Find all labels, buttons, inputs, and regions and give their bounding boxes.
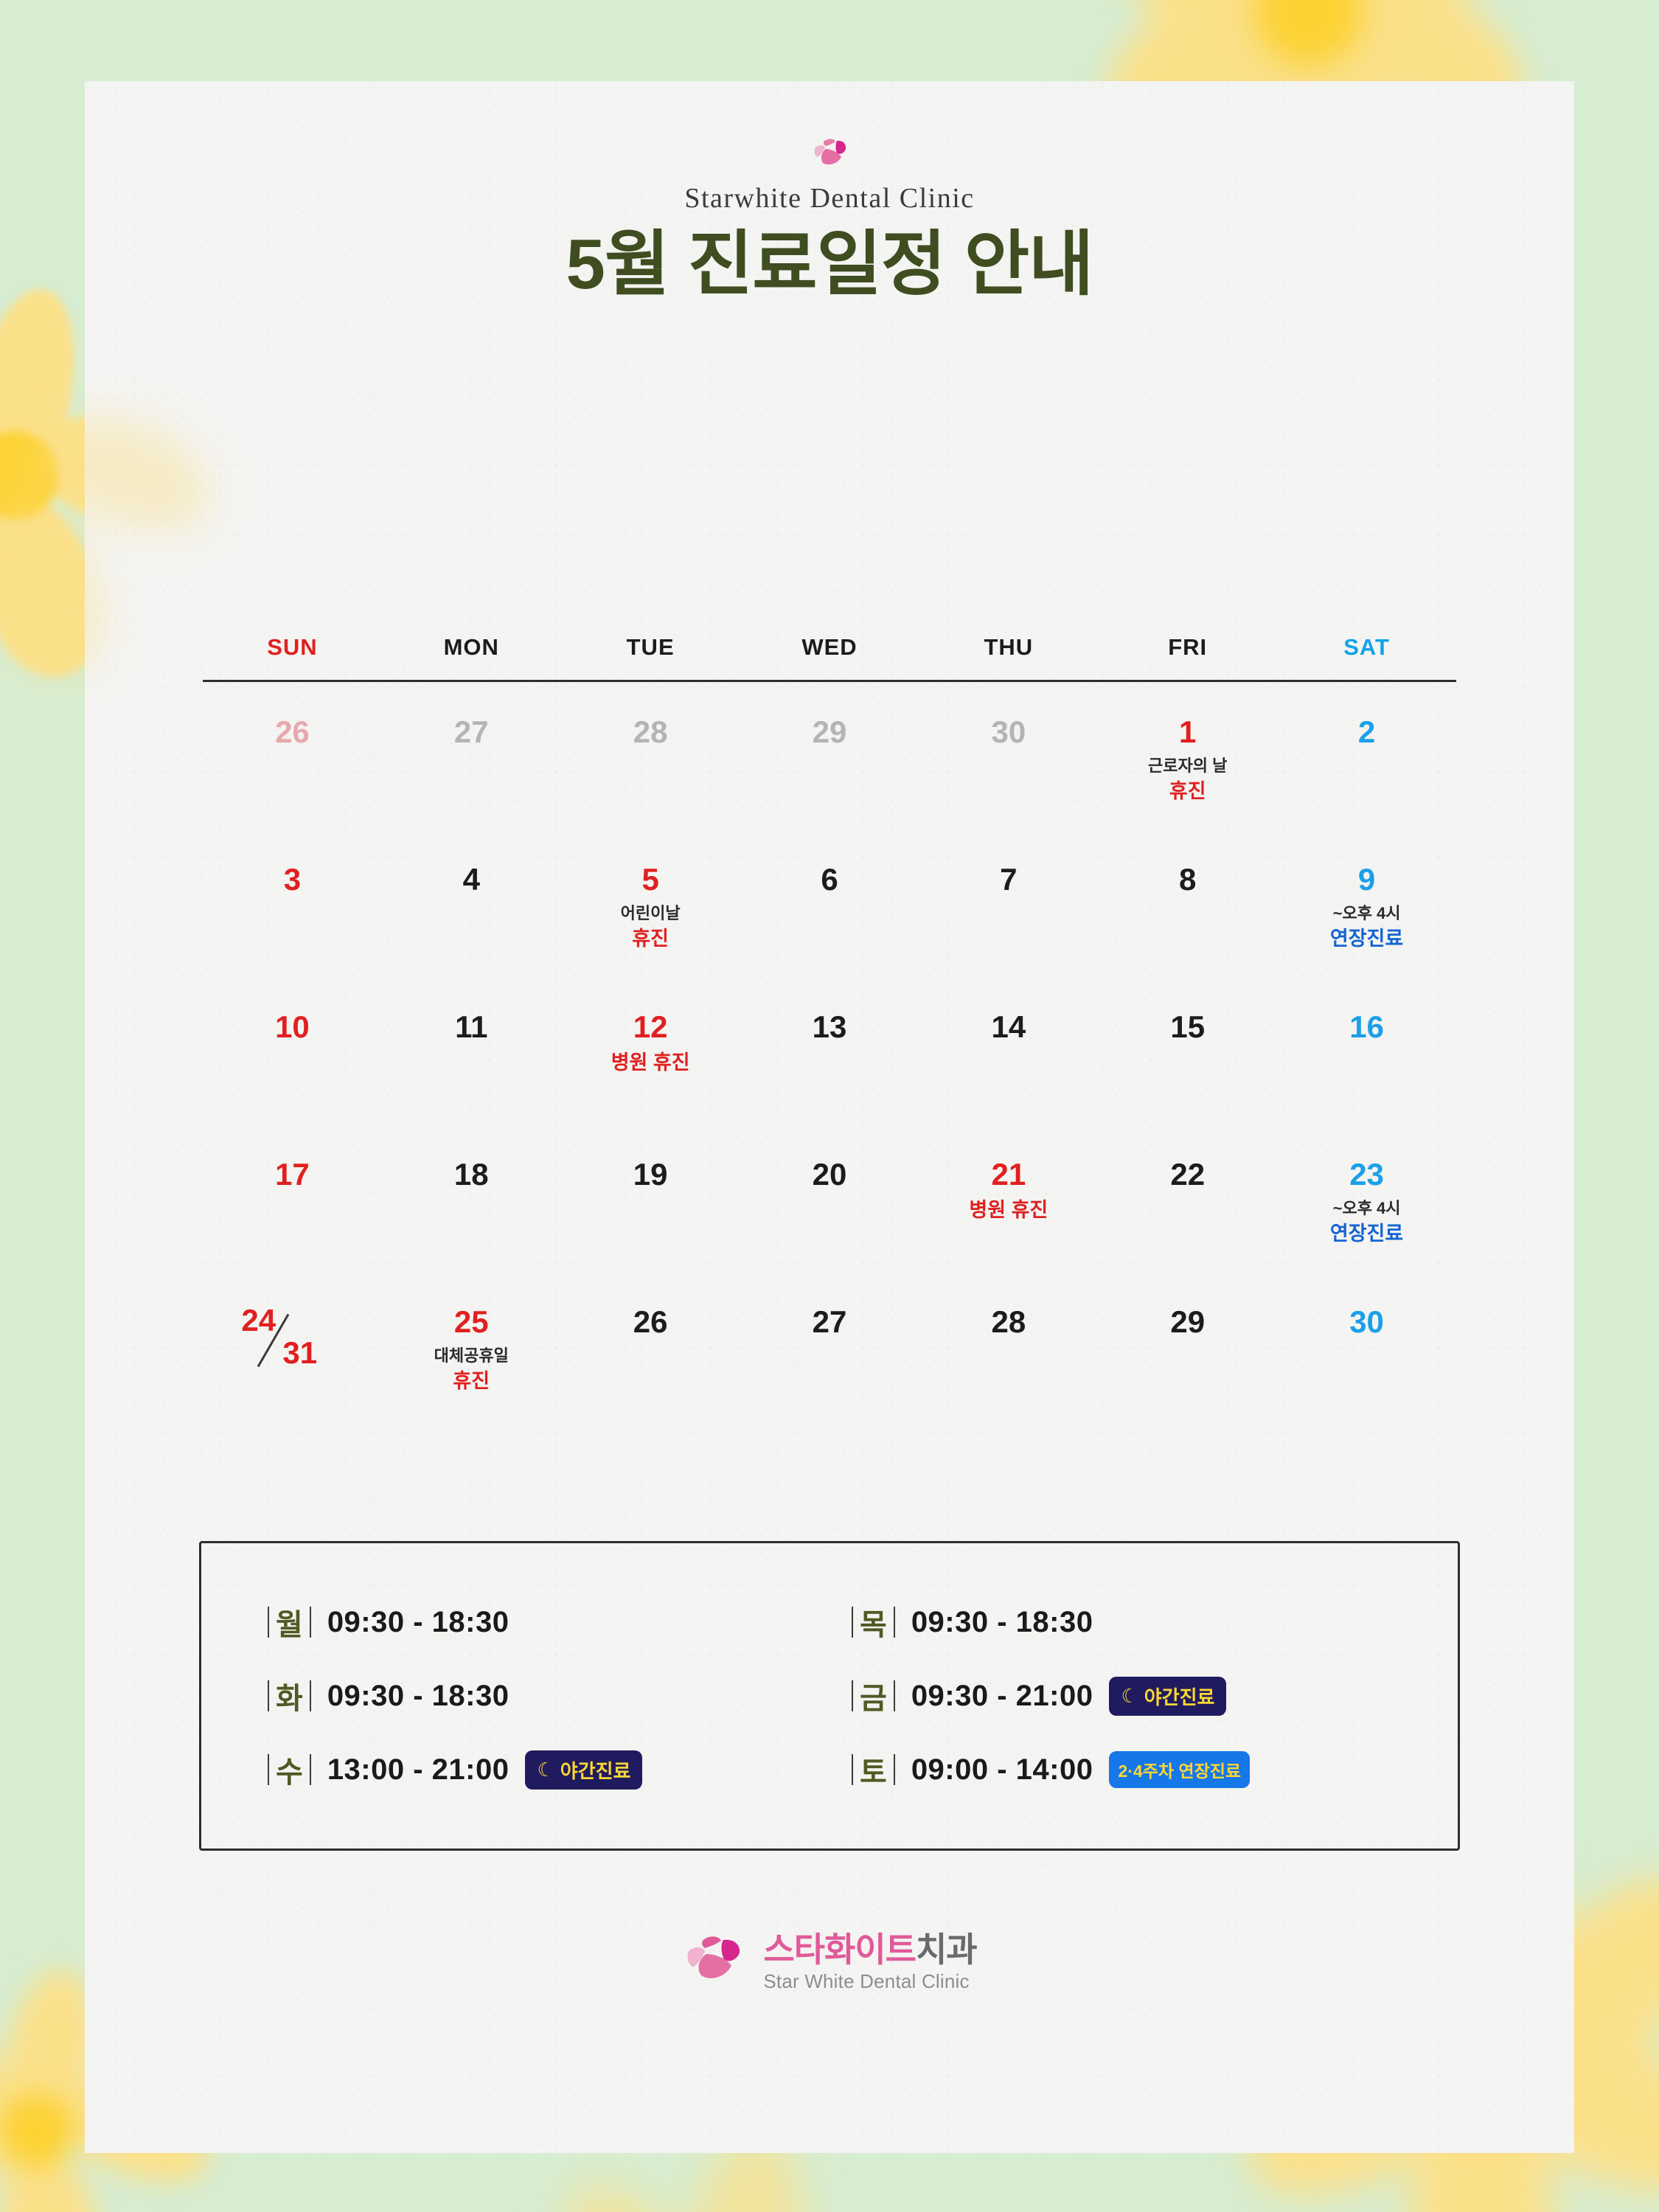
footer-clinic-name-ko: 스타화이트치과 xyxy=(763,1932,976,1967)
calendar-day-cell[interactable]: 10 xyxy=(203,1008,382,1155)
day-number: 4 xyxy=(382,863,561,896)
office-hours-row: 목09:30 - 18:30 xyxy=(829,1587,1413,1658)
day-label-bar-right xyxy=(310,1680,311,1711)
calendar-day-cell[interactable]: 7 xyxy=(919,860,1098,1008)
calendar-day-cell[interactable]: 25대체공휴일휴진 xyxy=(382,1303,561,1450)
badge-label: 야간진료 xyxy=(1144,1683,1215,1710)
day-number: 26 xyxy=(561,1306,740,1338)
day-number: 2 xyxy=(1277,716,1456,748)
day-number: 28 xyxy=(919,1306,1098,1338)
calendar-day-cell[interactable]: 11 xyxy=(382,1008,561,1155)
weekday-header-thu: THU xyxy=(919,634,1098,661)
office-hours-box: 월09:30 - 18:30목09:30 - 18:30화09:30 - 18:… xyxy=(199,1541,1460,1851)
day-label-bar-left xyxy=(268,1680,269,1711)
calendar-day-cell[interactable]: 16 xyxy=(1277,1008,1456,1155)
hours-day-text: 화 xyxy=(276,1674,303,1717)
poster-content: Starwhite Dental Clinic 5월 진료일정 안내 SUNMO… xyxy=(0,0,1659,2212)
footer-clinic-name-en: Star White Dental Clinic xyxy=(763,1972,976,1992)
day-number-secondary: 31 xyxy=(282,1335,317,1371)
hours-time-range: 09:00 - 14:00 xyxy=(911,1753,1093,1787)
day-label-bar-right xyxy=(310,1754,311,1785)
day-number: 29 xyxy=(1098,1306,1277,1338)
day-status-tag: 병원 휴진 xyxy=(561,1051,740,1076)
calendar-day-cell[interactable]: 4 xyxy=(382,860,561,1008)
clinic-brand-header: Starwhite Dental Clinic xyxy=(0,136,1659,215)
calendar-grid: 26272829301근로자의 날휴진2345어린이날휴진6789~오후 4시연… xyxy=(203,682,1456,1450)
hours-day-label: 월 xyxy=(268,1601,311,1644)
calendar-day-cell[interactable]: 13 xyxy=(740,1008,919,1155)
footer-name-gray: 치과 xyxy=(916,1930,977,1969)
calendar-day-cell[interactable]: 2431 xyxy=(203,1303,382,1450)
calendar-day-cell[interactable]: 6 xyxy=(740,860,919,1008)
calendar-day-cell[interactable]: 27 xyxy=(740,1303,919,1450)
calendar-day-cell[interactable]: 21병원 휴진 xyxy=(919,1155,1098,1303)
hours-day-label: 토 xyxy=(852,1748,895,1791)
extended-hours-badge: 2·4주차 연장진료 xyxy=(1109,1751,1250,1788)
day-status-tag: 연장진료 xyxy=(1277,927,1456,952)
calendar-day-split: 2431 xyxy=(237,1306,347,1374)
weekday-header-sun: SUN xyxy=(203,634,382,661)
day-label-bar-right xyxy=(894,1680,895,1711)
flower-petal-logo-icon xyxy=(810,136,849,169)
calendar-day-cell[interactable]: 29 xyxy=(740,713,919,860)
hours-time-range: 09:30 - 21:00 xyxy=(911,1680,1093,1713)
page-title: 5월 진료일정 안내 xyxy=(0,206,1659,309)
calendar-day-cell[interactable]: 30 xyxy=(1277,1303,1456,1450)
day-note: 근로자의 날 xyxy=(1098,756,1277,776)
calendar: SUNMONTUEWEDTHUFRISAT 26272829301근로자의 날휴… xyxy=(203,634,1456,1450)
day-number: 19 xyxy=(561,1158,740,1191)
hours-day-text: 목 xyxy=(860,1601,887,1644)
hours-time-range: 09:30 - 18:30 xyxy=(327,1680,509,1713)
calendar-day-cell[interactable]: 19 xyxy=(561,1155,740,1303)
night-clinic-badge: ☾야간진료 xyxy=(525,1750,642,1790)
hours-day-label: 금 xyxy=(852,1674,895,1717)
day-number: 7 xyxy=(919,863,1098,896)
weekday-header-sat: SAT xyxy=(1277,634,1456,661)
calendar-day-cell[interactable]: 23~오후 4시연장진료 xyxy=(1277,1155,1456,1303)
day-label-bar-right xyxy=(894,1754,895,1785)
day-label-bar-right xyxy=(310,1607,311,1638)
day-number: 17 xyxy=(203,1158,382,1191)
calendar-day-cell[interactable]: 29 xyxy=(1098,1303,1277,1450)
footer-name-pink: 스타화이트 xyxy=(763,1930,916,1969)
office-hours-row: 화09:30 - 18:30 xyxy=(246,1660,829,1731)
day-status-tag: 연장진료 xyxy=(1277,1222,1456,1247)
calendar-day-cell[interactable]: 9~오후 4시연장진료 xyxy=(1277,860,1456,1008)
flower-petal-logo-icon xyxy=(682,1935,744,1989)
day-number: 1 xyxy=(1098,716,1277,748)
calendar-day-cell[interactable]: 15 xyxy=(1098,1008,1277,1155)
hours-day-text: 금 xyxy=(860,1674,887,1717)
day-label-bar-right xyxy=(894,1607,895,1638)
day-number: 21 xyxy=(919,1158,1098,1191)
day-status-tag: 휴진 xyxy=(382,1369,561,1394)
day-status-tag: 휴진 xyxy=(1098,779,1277,804)
calendar-day-cell[interactable]: 27 xyxy=(382,713,561,860)
day-number: 13 xyxy=(740,1011,919,1043)
calendar-day-cell[interactable]: 1근로자의 날휴진 xyxy=(1098,713,1277,860)
calendar-day-cell[interactable]: 8 xyxy=(1098,860,1277,1008)
day-number: 18 xyxy=(382,1158,561,1191)
day-number: 11 xyxy=(382,1011,561,1043)
weekday-header-wed: WED xyxy=(740,634,919,661)
office-hours-row: 금09:30 - 21:00☾야간진료 xyxy=(829,1660,1413,1731)
day-number: 15 xyxy=(1098,1011,1277,1043)
day-note: ~오후 4시 xyxy=(1277,1198,1456,1219)
calendar-day-cell[interactable]: 18 xyxy=(382,1155,561,1303)
hours-time-range: 09:30 - 18:30 xyxy=(911,1606,1093,1639)
day-number: 20 xyxy=(740,1158,919,1191)
hours-day-text: 수 xyxy=(276,1748,303,1791)
day-note: ~오후 4시 xyxy=(1277,903,1456,924)
day-number: 28 xyxy=(561,716,740,748)
calendar-day-cell[interactable]: 3 xyxy=(203,860,382,1008)
calendar-day-cell[interactable]: 5어린이날휴진 xyxy=(561,860,740,1008)
office-hours-row: 수13:00 - 21:00☾야간진료 xyxy=(246,1734,829,1805)
day-number: 12 xyxy=(561,1011,740,1043)
day-number: 9 xyxy=(1277,863,1456,896)
weekday-header-fri: FRI xyxy=(1098,634,1277,661)
day-number: 25 xyxy=(382,1306,561,1338)
crescent-moon-icon: ☾ xyxy=(1121,1686,1138,1705)
hours-time-range: 13:00 - 21:00 xyxy=(327,1753,509,1787)
day-number: 27 xyxy=(740,1306,919,1338)
hours-day-text: 월 xyxy=(276,1601,303,1644)
calendar-day-cell[interactable]: 28 xyxy=(561,713,740,860)
hours-time-range: 09:30 - 18:30 xyxy=(327,1606,509,1639)
day-label-bar-left xyxy=(852,1754,853,1785)
day-number: 30 xyxy=(1277,1306,1456,1338)
calendar-day-cell[interactable]: 12병원 휴진 xyxy=(561,1008,740,1155)
crescent-moon-icon: ☾ xyxy=(537,1760,554,1779)
day-number: 22 xyxy=(1098,1158,1277,1191)
weekday-header-tue: TUE xyxy=(561,634,740,661)
day-label-bar-left xyxy=(268,1607,269,1638)
badge-label: 2·4주차 연장진료 xyxy=(1118,1757,1241,1782)
office-hours-row: 토09:00 - 14:002·4주차 연장진료 xyxy=(829,1734,1413,1805)
calendar-day-cell[interactable]: 30 xyxy=(919,713,1098,860)
day-number: 8 xyxy=(1098,863,1277,896)
day-number: 6 xyxy=(740,863,919,896)
day-number: 30 xyxy=(919,716,1098,748)
day-number: 26 xyxy=(203,716,382,748)
weekday-header-mon: MON xyxy=(382,634,561,661)
hours-day-label: 화 xyxy=(268,1674,311,1717)
calendar-day-cell[interactable]: 14 xyxy=(919,1008,1098,1155)
day-label-bar-left xyxy=(852,1607,853,1638)
day-number: 23 xyxy=(1277,1158,1456,1191)
calendar-day-cell[interactable]: 22 xyxy=(1098,1155,1277,1303)
day-number: 27 xyxy=(382,716,561,748)
office-hours-row: 월09:30 - 18:30 xyxy=(246,1587,829,1658)
day-number: 3 xyxy=(203,863,382,896)
day-number: 16 xyxy=(1277,1011,1456,1043)
day-number: 5 xyxy=(561,863,740,896)
calendar-weekday-header: SUNMONTUEWEDTHUFRISAT xyxy=(203,634,1456,682)
day-status-tag: 휴진 xyxy=(561,927,740,952)
day-label-bar-left xyxy=(852,1680,853,1711)
day-number-primary: 24 xyxy=(241,1303,276,1338)
calendar-day-cell[interactable]: 26 xyxy=(561,1303,740,1450)
day-number: 14 xyxy=(919,1011,1098,1043)
day-note: 대체공휴일 xyxy=(382,1346,561,1366)
day-number: 29 xyxy=(740,716,919,748)
calendar-day-cell[interactable]: 17 xyxy=(203,1155,382,1303)
footer-text: 스타화이트치과 Star White Dental Clinic xyxy=(763,1932,976,1992)
badge-label: 야간진료 xyxy=(560,1756,631,1784)
day-label-bar-left xyxy=(268,1754,269,1785)
calendar-day-cell[interactable]: 2 xyxy=(1277,713,1456,860)
day-status-tag: 병원 휴진 xyxy=(919,1198,1098,1223)
day-number: 10 xyxy=(203,1011,382,1043)
hours-day-text: 토 xyxy=(860,1748,887,1791)
hours-day-label: 수 xyxy=(268,1748,311,1791)
night-clinic-badge: ☾야간진료 xyxy=(1109,1677,1226,1716)
footer-brand: 스타화이트치과 Star White Dental Clinic xyxy=(0,1932,1659,1992)
day-note: 어린이날 xyxy=(561,903,740,924)
calendar-day-cell[interactable]: 26 xyxy=(203,713,382,860)
calendar-day-cell[interactable]: 20 xyxy=(740,1155,919,1303)
calendar-day-cell[interactable]: 28 xyxy=(919,1303,1098,1450)
hours-day-label: 목 xyxy=(852,1601,895,1644)
